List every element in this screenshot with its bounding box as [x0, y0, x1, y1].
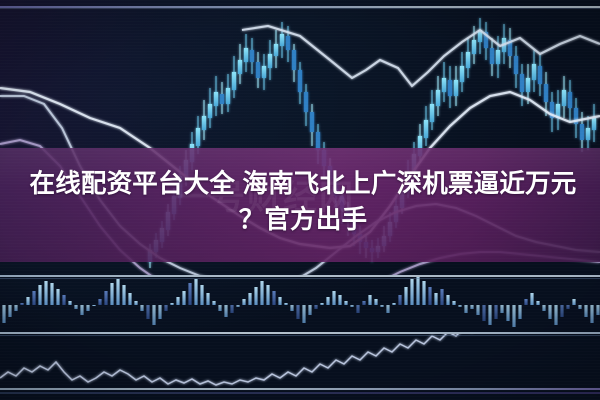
headline-line-1: 在线配资平台大全 海南飞北上广深机票逼近万元 [22, 166, 584, 202]
indicator-line-series [0, 310, 600, 385]
news-banner-image: 一号财经网 在线配资平台大全 海南飞北上广深机票逼近万元 ？官方出手 [0, 0, 600, 400]
headline-text: 在线配资平台大全 海南飞北上广深机票逼近万元 ？官方出手 [22, 166, 584, 238]
macd-histogram-series [2, 275, 599, 327]
headline-line-2: ？官方出手 [22, 202, 584, 238]
